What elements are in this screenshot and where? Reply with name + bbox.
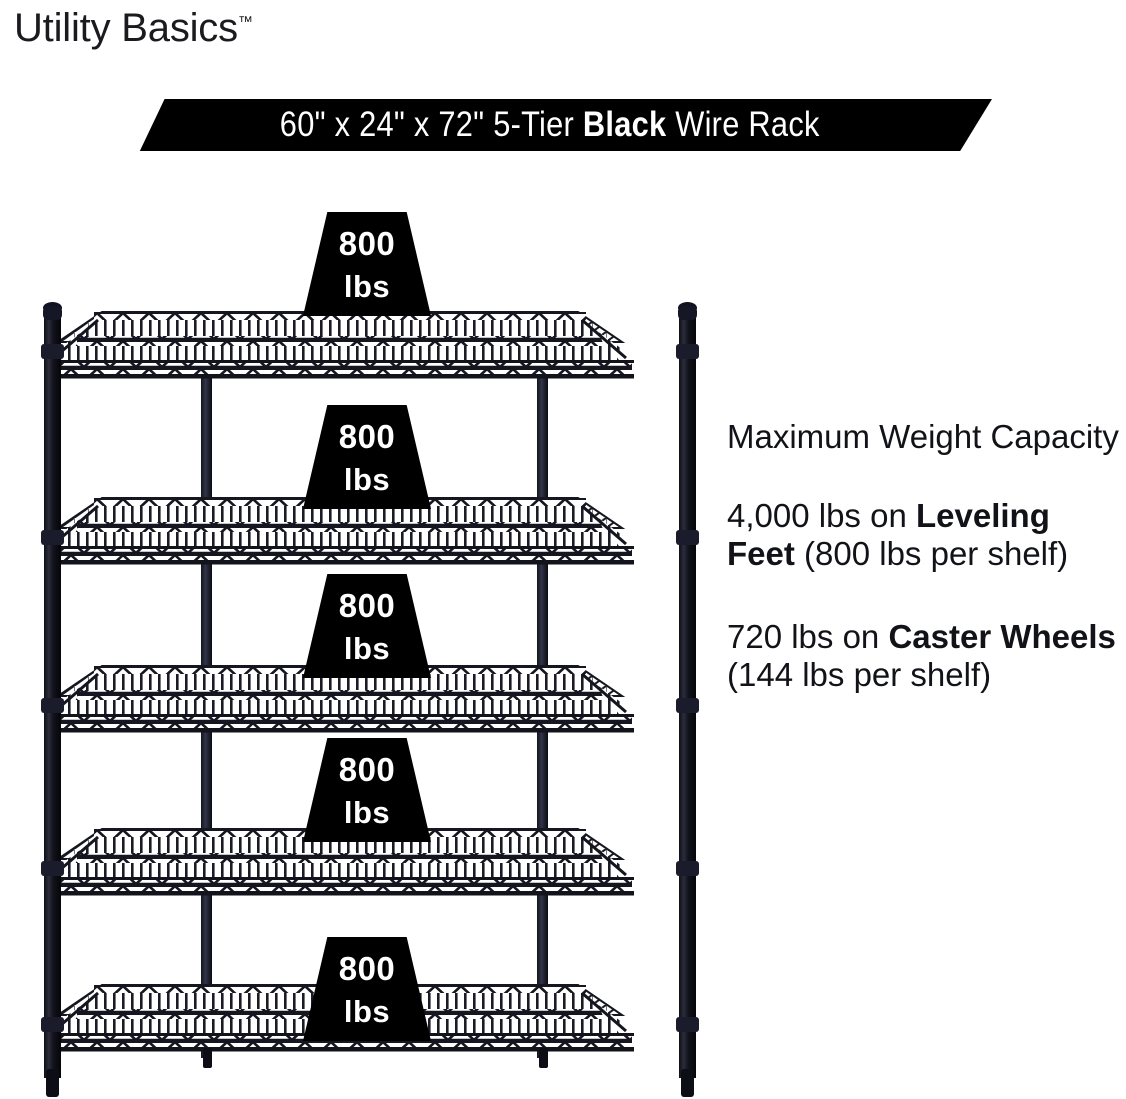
product-title-banner: 60" x 24" x 72" 5-Tier Black Wire Rack [108, 99, 992, 151]
load-badge-unit: lbs [344, 633, 390, 664]
load-badge-value: 800 [339, 952, 396, 985]
weight-capacity-info: Maximum Weight Capacity 4,000 lbs on Lev… [727, 418, 1119, 695]
capacity-heading: Maximum Weight Capacity [727, 418, 1119, 457]
leveling-feet [46, 1048, 694, 1097]
trademark-symbol: ™ [238, 14, 253, 31]
brand-name: Utility Basics [14, 6, 238, 50]
banner-emphasis: Black [583, 105, 667, 144]
load-badge-value: 800 [339, 227, 396, 260]
brand-logo: Utility Basics™ [14, 6, 253, 51]
product-title-text: 60" x 24" x 72" 5-Tier Black Wire Rack [280, 105, 820, 145]
load-badge-tier-1: 800 lbs [303, 212, 431, 316]
load-badge-value: 800 [339, 420, 396, 453]
banner-prefix: 60" x 24" x 72" 5-Tier [280, 105, 583, 144]
load-badge-value: 800 [339, 753, 396, 786]
load-badge-unit: lbs [344, 271, 390, 302]
caster-wheels-capacity: 720 lbs on Caster Wheels (144 lbs per sh… [727, 618, 1119, 695]
leveling-feet-capacity: 4,000 lbs on Leveling Feet (800 lbs per … [727, 497, 1119, 574]
shelf-tier-1 [46, 312, 634, 379]
banner-suffix: Wire Rack [667, 105, 820, 144]
load-badge-value: 800 [339, 589, 396, 622]
leveling-lead: 4,000 lbs on [727, 497, 916, 534]
caster-lead: 720 lbs on [727, 618, 888, 655]
caster-emphasis: Caster Wheels [888, 618, 1115, 655]
leveling-tail: (800 lbs per shelf) [795, 535, 1068, 572]
load-badge-unit: lbs [344, 464, 390, 495]
load-badge-unit: lbs [344, 996, 390, 1027]
load-badge-unit: lbs [344, 797, 390, 828]
caster-tail: (144 lbs per shelf) [727, 656, 991, 693]
